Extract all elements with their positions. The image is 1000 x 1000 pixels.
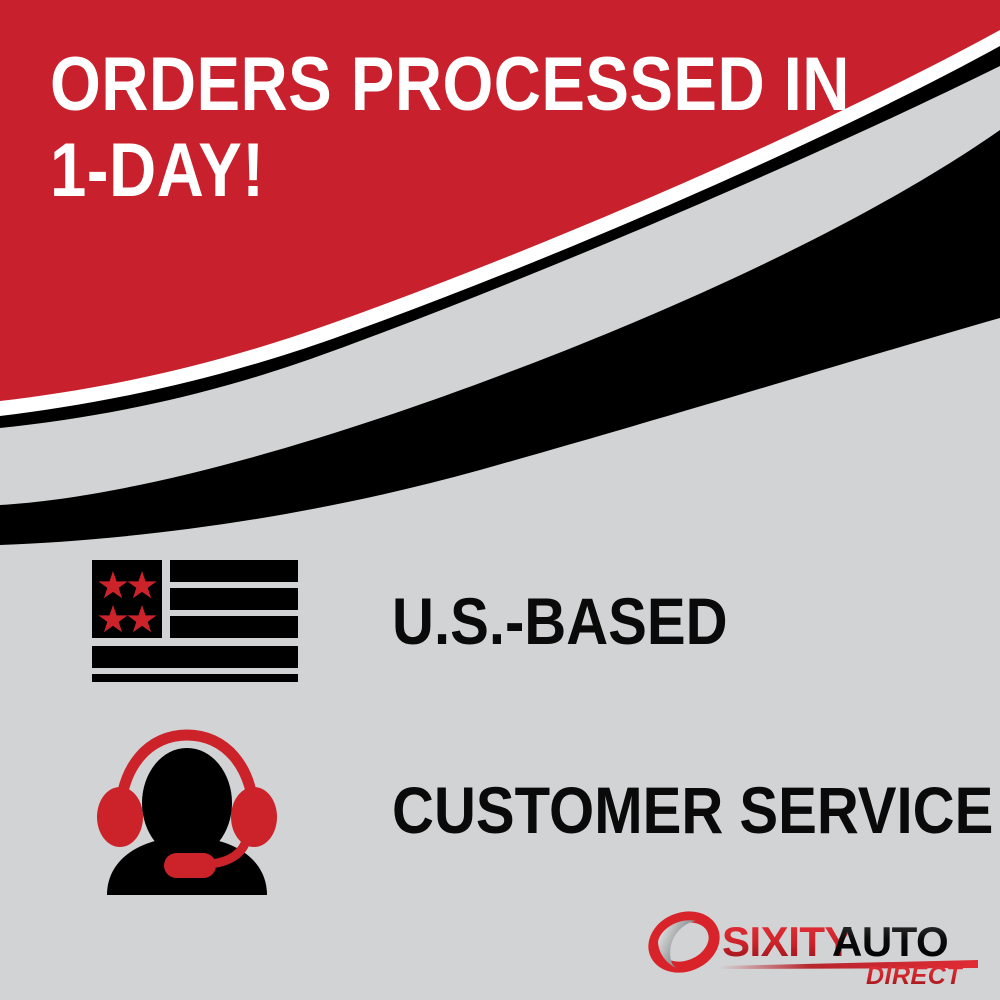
- usa-flag-icon: [92, 560, 298, 682]
- flag-canton-stripes: [170, 560, 298, 638]
- sixity-auto-direct-logo[interactable]: SIXITY AUTO DIRECT: [648, 908, 980, 986]
- flag-canton: [92, 560, 162, 638]
- promo-banner: ORDERS PROCESSED IN 1-DAY!: [0, 0, 1000, 1000]
- headline-line-2: 1-DAY!: [50, 128, 704, 214]
- headset-agent-icon: [92, 725, 282, 895]
- headset-mic-capsule: [164, 853, 216, 878]
- feature-label-customer-service: CUSTOMER SERVICE: [392, 775, 993, 845]
- headset-earcup-left: [97, 787, 143, 847]
- logo-word-direct: DIRECT: [866, 962, 964, 986]
- usa-flag-icon-wrap: [92, 560, 307, 682]
- logo-svg: SIXITY AUTO DIRECT: [648, 908, 980, 986]
- feature-row-customer-service: CUSTOMER SERVICE: [92, 725, 1000, 895]
- feature-row-us-based: U.S.-BASED: [92, 560, 773, 682]
- headset-agent-icon-wrap: [92, 725, 307, 895]
- sixity-ring-icon: [648, 908, 722, 976]
- logo-word-auto: AUTO: [832, 918, 948, 965]
- flag-full-stripes: [92, 646, 298, 682]
- feature-label-us-based: U.S.-BASED: [392, 586, 728, 656]
- headline-line-1: ORDERS PROCESSED IN: [50, 42, 704, 128]
- headset-earcup-right: [231, 787, 277, 847]
- headline-block: ORDERS PROCESSED IN 1-DAY!: [50, 42, 810, 214]
